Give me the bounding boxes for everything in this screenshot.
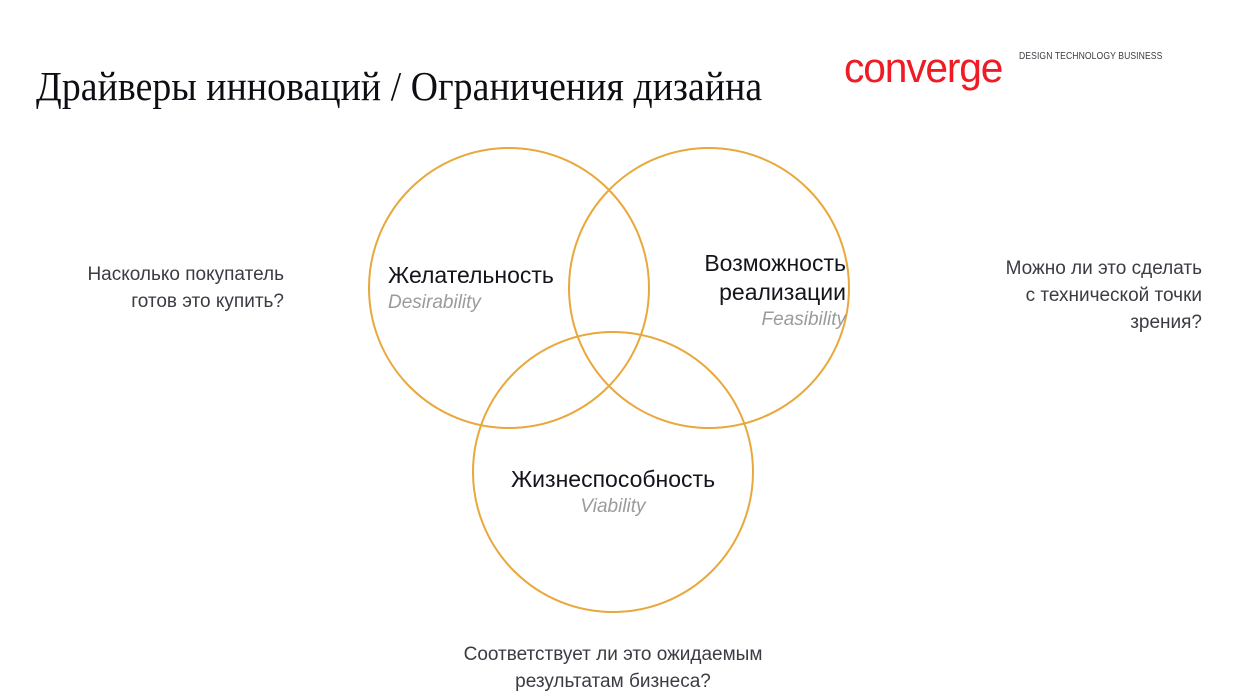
venn-label-feasibility-ru: Возможность реализации [704,249,846,307]
venn-label-viability: Жизнеспособность Viability [511,465,715,519]
logo-tagline: DESIGN TECHNOLOGY BUSINESS [1019,51,1162,62]
slide-canvas: Драйверы инноваций / Ограничения дизайна… [0,0,1252,697]
venn-label-desirability-en: Desirability [388,290,554,315]
venn-label-feasibility-en: Feasibility [704,307,846,332]
logo-wordmark: converge [844,47,1002,89]
caption-feasibility-question: Можно ли это сделать с технической точки… [942,255,1202,336]
venn-label-viability-en: Viability [511,494,715,519]
venn-circle-viability [473,332,753,612]
venn-circle-feasibility [569,148,849,428]
venn-label-desirability: Желательность Desirability [388,261,554,315]
venn-circle-desirability [369,148,649,428]
venn-label-viability-ru: Жизнеспособность [511,465,715,494]
caption-viability-question: Соответствует ли это ожидаемым результат… [353,641,873,695]
venn-label-feasibility: Возможность реализации Feasibility [704,249,846,332]
converge-logo: converge DESIGN TECHNOLOGY BUSINESS [844,47,1194,89]
caption-desirability-question: Насколько покупатель готов это купить? [26,261,284,315]
page-title: Драйверы инноваций / Ограничения дизайна [36,62,762,110]
venn-label-desirability-ru: Желательность [388,261,554,290]
